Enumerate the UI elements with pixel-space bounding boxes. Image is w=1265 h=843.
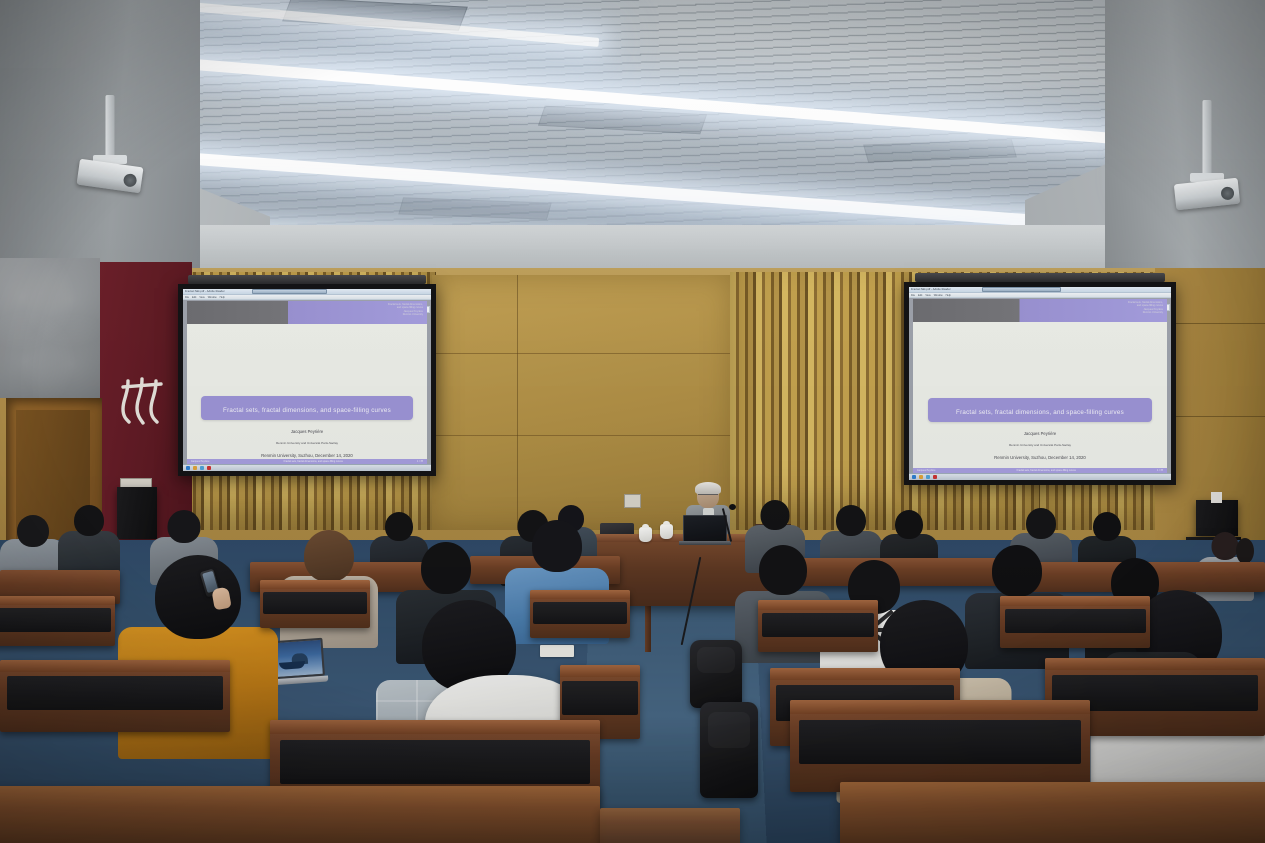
bench-rail bbox=[758, 600, 878, 610]
backpack bbox=[690, 640, 742, 708]
audience-person bbox=[58, 505, 120, 577]
mail-icon[interactable] bbox=[926, 475, 930, 479]
screen-surface: Fractal-Talk.pdf - Adobe Reader File Edi… bbox=[909, 287, 1171, 480]
slide-header-band: Fractal sets, fractal dimensions, and sp… bbox=[187, 301, 427, 324]
slide-footer: Jacques Peyrière Fractal sets, fractal d… bbox=[187, 459, 427, 464]
menu-item-edit[interactable]: Edit bbox=[918, 294, 922, 297]
slide-page-number: 1 / 78 bbox=[1157, 469, 1163, 472]
slide-title-band: Fractal sets, fractal dimensions, and sp… bbox=[928, 398, 1152, 422]
menu-item-help[interactable]: Help bbox=[220, 296, 225, 299]
teacup bbox=[639, 527, 652, 542]
slide-body: Fractal sets, fractal dimensions, and sp… bbox=[187, 324, 427, 464]
slide-title: Fractal sets, fractal dimensions, and sp… bbox=[223, 407, 391, 414]
wall-outlet-plate bbox=[624, 494, 641, 508]
bench-rail bbox=[270, 720, 600, 734]
bench-backrest-pad bbox=[7, 676, 223, 710]
projector-body bbox=[77, 159, 144, 194]
slide-footer-author: Jacques Peyrière bbox=[917, 469, 935, 472]
table-leg bbox=[645, 600, 651, 652]
loudspeaker-top-marker bbox=[1211, 492, 1222, 503]
slide-footer-title: Fractal sets, fractal dimensions, and sp… bbox=[1017, 469, 1076, 472]
teacup bbox=[660, 524, 673, 539]
bench-row bbox=[0, 660, 230, 732]
slide-header-lines: Fractal sets, fractal dimensions, and sp… bbox=[1020, 299, 1167, 315]
acoustic-wall-panel bbox=[0, 258, 100, 398]
front-desk-surface bbox=[600, 808, 740, 843]
bench-rail bbox=[1045, 658, 1265, 670]
slide-page-number: 1 / 78 bbox=[417, 460, 423, 463]
bench-backrest-pad bbox=[799, 720, 1081, 764]
person-head bbox=[17, 515, 49, 547]
person-head bbox=[992, 545, 1042, 597]
windows-taskbar[interactable] bbox=[909, 473, 1171, 480]
bench-backrest-pad bbox=[762, 613, 875, 637]
pdf-window-title: Fractal-Talk.pdf - Adobe Reader bbox=[911, 288, 951, 291]
person-head bbox=[168, 510, 201, 543]
bench-rail bbox=[1000, 596, 1150, 606]
bench-row bbox=[0, 596, 115, 646]
folder-icon[interactable] bbox=[193, 466, 197, 470]
bench-backrest-pad bbox=[533, 602, 627, 624]
person-hair bbox=[304, 530, 354, 582]
person-head bbox=[421, 542, 471, 594]
slide-venue-line: Renmin University, Suzhou, December 14, … bbox=[994, 455, 1086, 460]
person-head bbox=[761, 500, 790, 530]
menu-item-window[interactable]: Window bbox=[208, 296, 217, 299]
slide-footer: Jacques Peyrière Fractal sets, fractal d… bbox=[913, 468, 1167, 473]
glasses-icon bbox=[698, 494, 718, 498]
slide-body: Fractal sets, fractal dimensions, and sp… bbox=[913, 322, 1167, 473]
bench-row bbox=[758, 600, 878, 652]
pdf-document-area: 100% Fractal sets, fractal dimensions, a… bbox=[183, 300, 431, 464]
front-desk-surface bbox=[0, 786, 600, 843]
bench-backrest-pad bbox=[0, 608, 111, 632]
lecture-hall-photo: Fractal-Talk.pdf - Adobe Reader File Edi… bbox=[0, 0, 1265, 843]
slide-author: Jacques Peyrière bbox=[291, 429, 323, 434]
projector-lens-icon bbox=[1220, 186, 1234, 200]
bench-backrest-pad bbox=[280, 740, 590, 784]
bench-row bbox=[1000, 596, 1150, 648]
menu-item-view[interactable]: View bbox=[925, 294, 930, 297]
ceiling-projector-right bbox=[1167, 100, 1247, 215]
browser-icon[interactable] bbox=[912, 475, 916, 479]
slide-header-band: Fractal sets, fractal dimensions, and sp… bbox=[913, 299, 1167, 322]
bench-backrest-pad bbox=[1005, 609, 1146, 633]
projector-lens-icon bbox=[123, 173, 138, 188]
windows-taskbar[interactable] bbox=[183, 464, 431, 471]
person-head bbox=[1093, 512, 1121, 541]
screen-roller-housing bbox=[915, 273, 1165, 282]
person-hair bbox=[1236, 538, 1254, 564]
menu-item-edit[interactable]: Edit bbox=[192, 296, 196, 299]
slide-affiliation: Renmin University and Université Paris-S… bbox=[1009, 443, 1071, 447]
backpack bbox=[700, 702, 758, 798]
person-head bbox=[895, 510, 923, 539]
pdf-document-area: 100% Fractal sets, fractal dimensions, a… bbox=[909, 298, 1171, 473]
pdf-icon[interactable] bbox=[933, 475, 937, 479]
menu-item-view[interactable]: View bbox=[199, 296, 204, 299]
microphone-head-icon bbox=[729, 504, 736, 510]
front-desk-surface bbox=[840, 782, 1265, 843]
person-head bbox=[836, 505, 866, 536]
person-head bbox=[1026, 508, 1056, 539]
bench-row bbox=[530, 590, 630, 638]
left-projection-screen[interactable]: Fractal-Talk.pdf - Adobe Reader File Edi… bbox=[178, 284, 436, 476]
menu-item-window[interactable]: Window bbox=[934, 294, 943, 297]
wall-panel-seam bbox=[517, 275, 518, 530]
slide-title-band: Fractal sets, fractal dimensions, and sp… bbox=[201, 396, 412, 420]
renmin-university-wave-emblem-icon bbox=[120, 375, 168, 427]
projector-body bbox=[1174, 178, 1240, 211]
bench-rail bbox=[260, 580, 370, 589]
bench-backrest-pad bbox=[263, 592, 366, 614]
menu-item-file[interactable]: File bbox=[185, 296, 189, 299]
bench-rail bbox=[530, 590, 630, 599]
pdf-window-title: Fractal-Talk.pdf - Adobe Reader bbox=[185, 290, 225, 293]
slide-footer-author: Jacques Peyrière bbox=[191, 460, 209, 463]
pdf-icon[interactable] bbox=[207, 466, 211, 470]
projector-pole bbox=[106, 95, 115, 157]
screen-roller-housing bbox=[188, 275, 425, 284]
wall-loudspeaker-right-upper bbox=[1196, 500, 1238, 536]
bench-rail bbox=[0, 660, 230, 672]
bench-rail bbox=[770, 668, 960, 680]
presenter-laptop-screen[interactable] bbox=[683, 515, 727, 542]
slide-author: Jacques Peyrière bbox=[1024, 431, 1056, 436]
folder-icon[interactable] bbox=[919, 475, 923, 479]
presenter-laptop-base[interactable] bbox=[679, 541, 731, 545]
mail-icon[interactable] bbox=[200, 466, 204, 470]
right-projection-screen[interactable]: Fractal-Talk.pdf - Adobe Reader File Edi… bbox=[904, 282, 1176, 485]
person-head bbox=[385, 512, 413, 541]
bench-rail bbox=[0, 596, 115, 605]
slide-header-line-4: Renmin University bbox=[288, 313, 423, 316]
bench-rail bbox=[790, 700, 1090, 714]
slide-header-lines: Fractal sets, fractal dimensions, and sp… bbox=[288, 301, 427, 317]
menu-item-help[interactable]: Help bbox=[946, 294, 951, 297]
wallpaper-boat bbox=[279, 661, 305, 670]
person-head bbox=[532, 520, 582, 572]
slide-header-line-4: Renmin University bbox=[1020, 311, 1163, 314]
person-head bbox=[759, 545, 807, 595]
slide-footer-title: Fractal sets, fractal dimensions, and sp… bbox=[284, 460, 343, 463]
pdf-toolbar[interactable] bbox=[252, 289, 326, 294]
bench-row bbox=[260, 580, 370, 628]
bench-rail bbox=[560, 665, 640, 677]
browser-icon[interactable] bbox=[186, 466, 190, 470]
bench-backrest-pad bbox=[562, 681, 637, 715]
menu-item-file[interactable]: File bbox=[911, 294, 915, 297]
slide-title: Fractal sets, fractal dimensions, and sp… bbox=[956, 409, 1124, 416]
projector-pole bbox=[1203, 100, 1212, 175]
slide-affiliation: Renmin University and Université Paris-S… bbox=[276, 441, 338, 445]
person-head bbox=[74, 505, 104, 536]
screen-surface: Fractal-Talk.pdf - Adobe Reader File Edi… bbox=[183, 289, 431, 471]
ceiling-projector-left bbox=[70, 95, 150, 200]
slide-venue-line: Renmin University, Suzhou, December 14, … bbox=[261, 453, 353, 458]
bench-row bbox=[790, 700, 1090, 792]
person-head bbox=[1212, 532, 1239, 560]
pdf-toolbar[interactable] bbox=[982, 287, 1061, 292]
